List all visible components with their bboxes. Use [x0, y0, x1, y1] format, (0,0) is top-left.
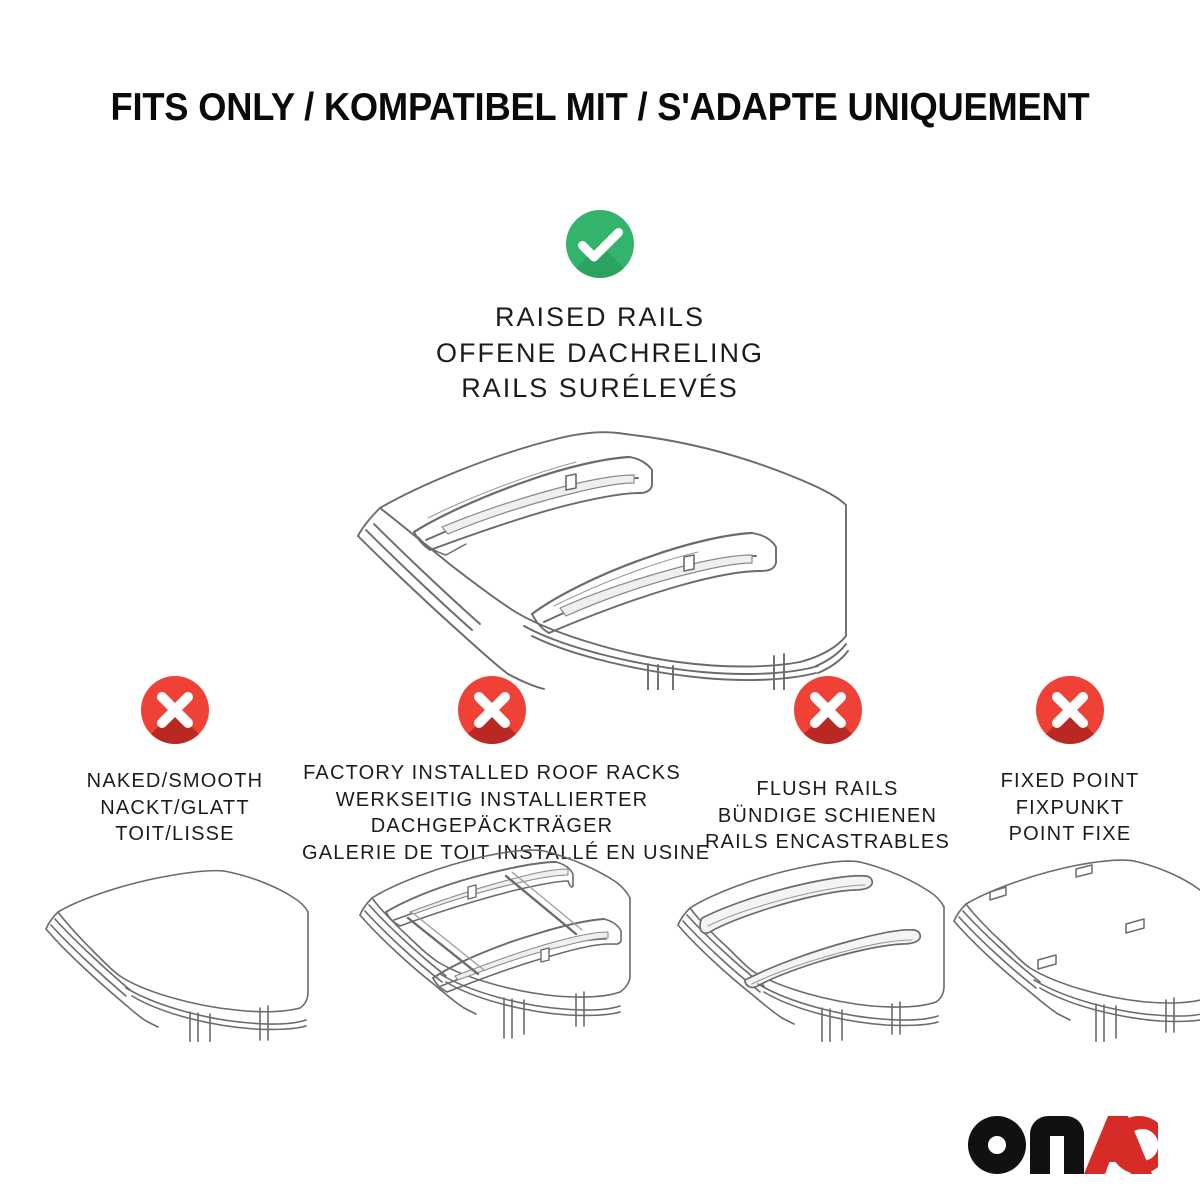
fitment-infographic: FITS ONLY / KOMPATIBEL MIT / S'ADAPTE UN…: [0, 0, 1200, 1200]
badge-wrap: [975, 676, 1165, 754]
badge-wrap: [302, 676, 682, 754]
caption-line-de-1: WERKSEITIG INSTALLIERTER: [302, 787, 682, 814]
caption-line-en: FLUSH RAILS: [690, 776, 965, 803]
caption-line-de: BÜNDIGE SCHIENEN: [690, 803, 965, 830]
incompatible-columns: NAKED/SMOOTH NACKT/GLATT TOIT/LISSE FACT…: [0, 676, 1200, 856]
car-roof-naked-smooth-illustration: [18, 862, 318, 1042]
car-roof-fixed-point-illustration: [930, 852, 1200, 1042]
page-title: FITS ONLY / KOMPATIBEL MIT / S'ADAPTE UN…: [42, 86, 1158, 130]
compatible-line-en: RAISED RAILS: [0, 300, 1200, 336]
badge-wrap: [690, 676, 965, 754]
car-roof-raised-rails-illustration: [318, 400, 888, 690]
omac-logo: OMAC: [968, 1116, 1158, 1174]
incompatible-illustrations: [0, 838, 1200, 1058]
x-circle-icon: [458, 676, 526, 744]
x-circle-icon: [794, 676, 862, 744]
incompatible-item-fixed-point: FIXED POINT FIXPUNKT POINT FIXE: [975, 676, 1165, 848]
car-roof-factory-racks-illustration: [328, 840, 653, 1040]
incompatible-item-flush-rails: FLUSH RAILS BÜNDIGE SCHIENEN RAILS ENCAS…: [690, 676, 965, 856]
check-circle-icon: [566, 210, 634, 278]
logo-text: OMAC: [968, 1174, 969, 1175]
caption-line-en: FIXED POINT: [975, 768, 1165, 795]
compatible-caption: RAISED RAILS OFFENE DACHRELING RAILS SUR…: [0, 300, 1200, 407]
compatible-line-de: OFFENE DACHRELING: [0, 336, 1200, 372]
x-circle-icon: [141, 676, 209, 744]
caption-line-de: FIXPUNKT: [975, 795, 1165, 822]
logo-letter-o: [968, 1116, 1026, 1174]
caption-line-de-2: DACHGEPÄCKTRÄGER: [302, 813, 682, 840]
caption-line-en: FACTORY INSTALLED ROOF RACKS: [302, 760, 682, 787]
car-roof-flush-rails-illustration: [650, 852, 950, 1042]
badge-wrap: [55, 676, 295, 754]
caption-line-en: NAKED/SMOOTH: [55, 768, 295, 795]
incompatible-caption: FIXED POINT FIXPUNKT POINT FIXE: [975, 768, 1165, 848]
x-circle-icon: [1036, 676, 1104, 744]
incompatible-caption: NAKED/SMOOTH NACKT/GLATT TOIT/LISSE: [55, 768, 295, 848]
compatible-block: RAISED RAILS OFFENE DACHRELING RAILS SUR…: [0, 210, 1200, 407]
caption-line-de: NACKT/GLATT: [55, 795, 295, 822]
logo-letter-m: [1030, 1116, 1084, 1174]
incompatible-item-naked-smooth: NAKED/SMOOTH NACKT/GLATT TOIT/LISSE: [55, 676, 295, 848]
